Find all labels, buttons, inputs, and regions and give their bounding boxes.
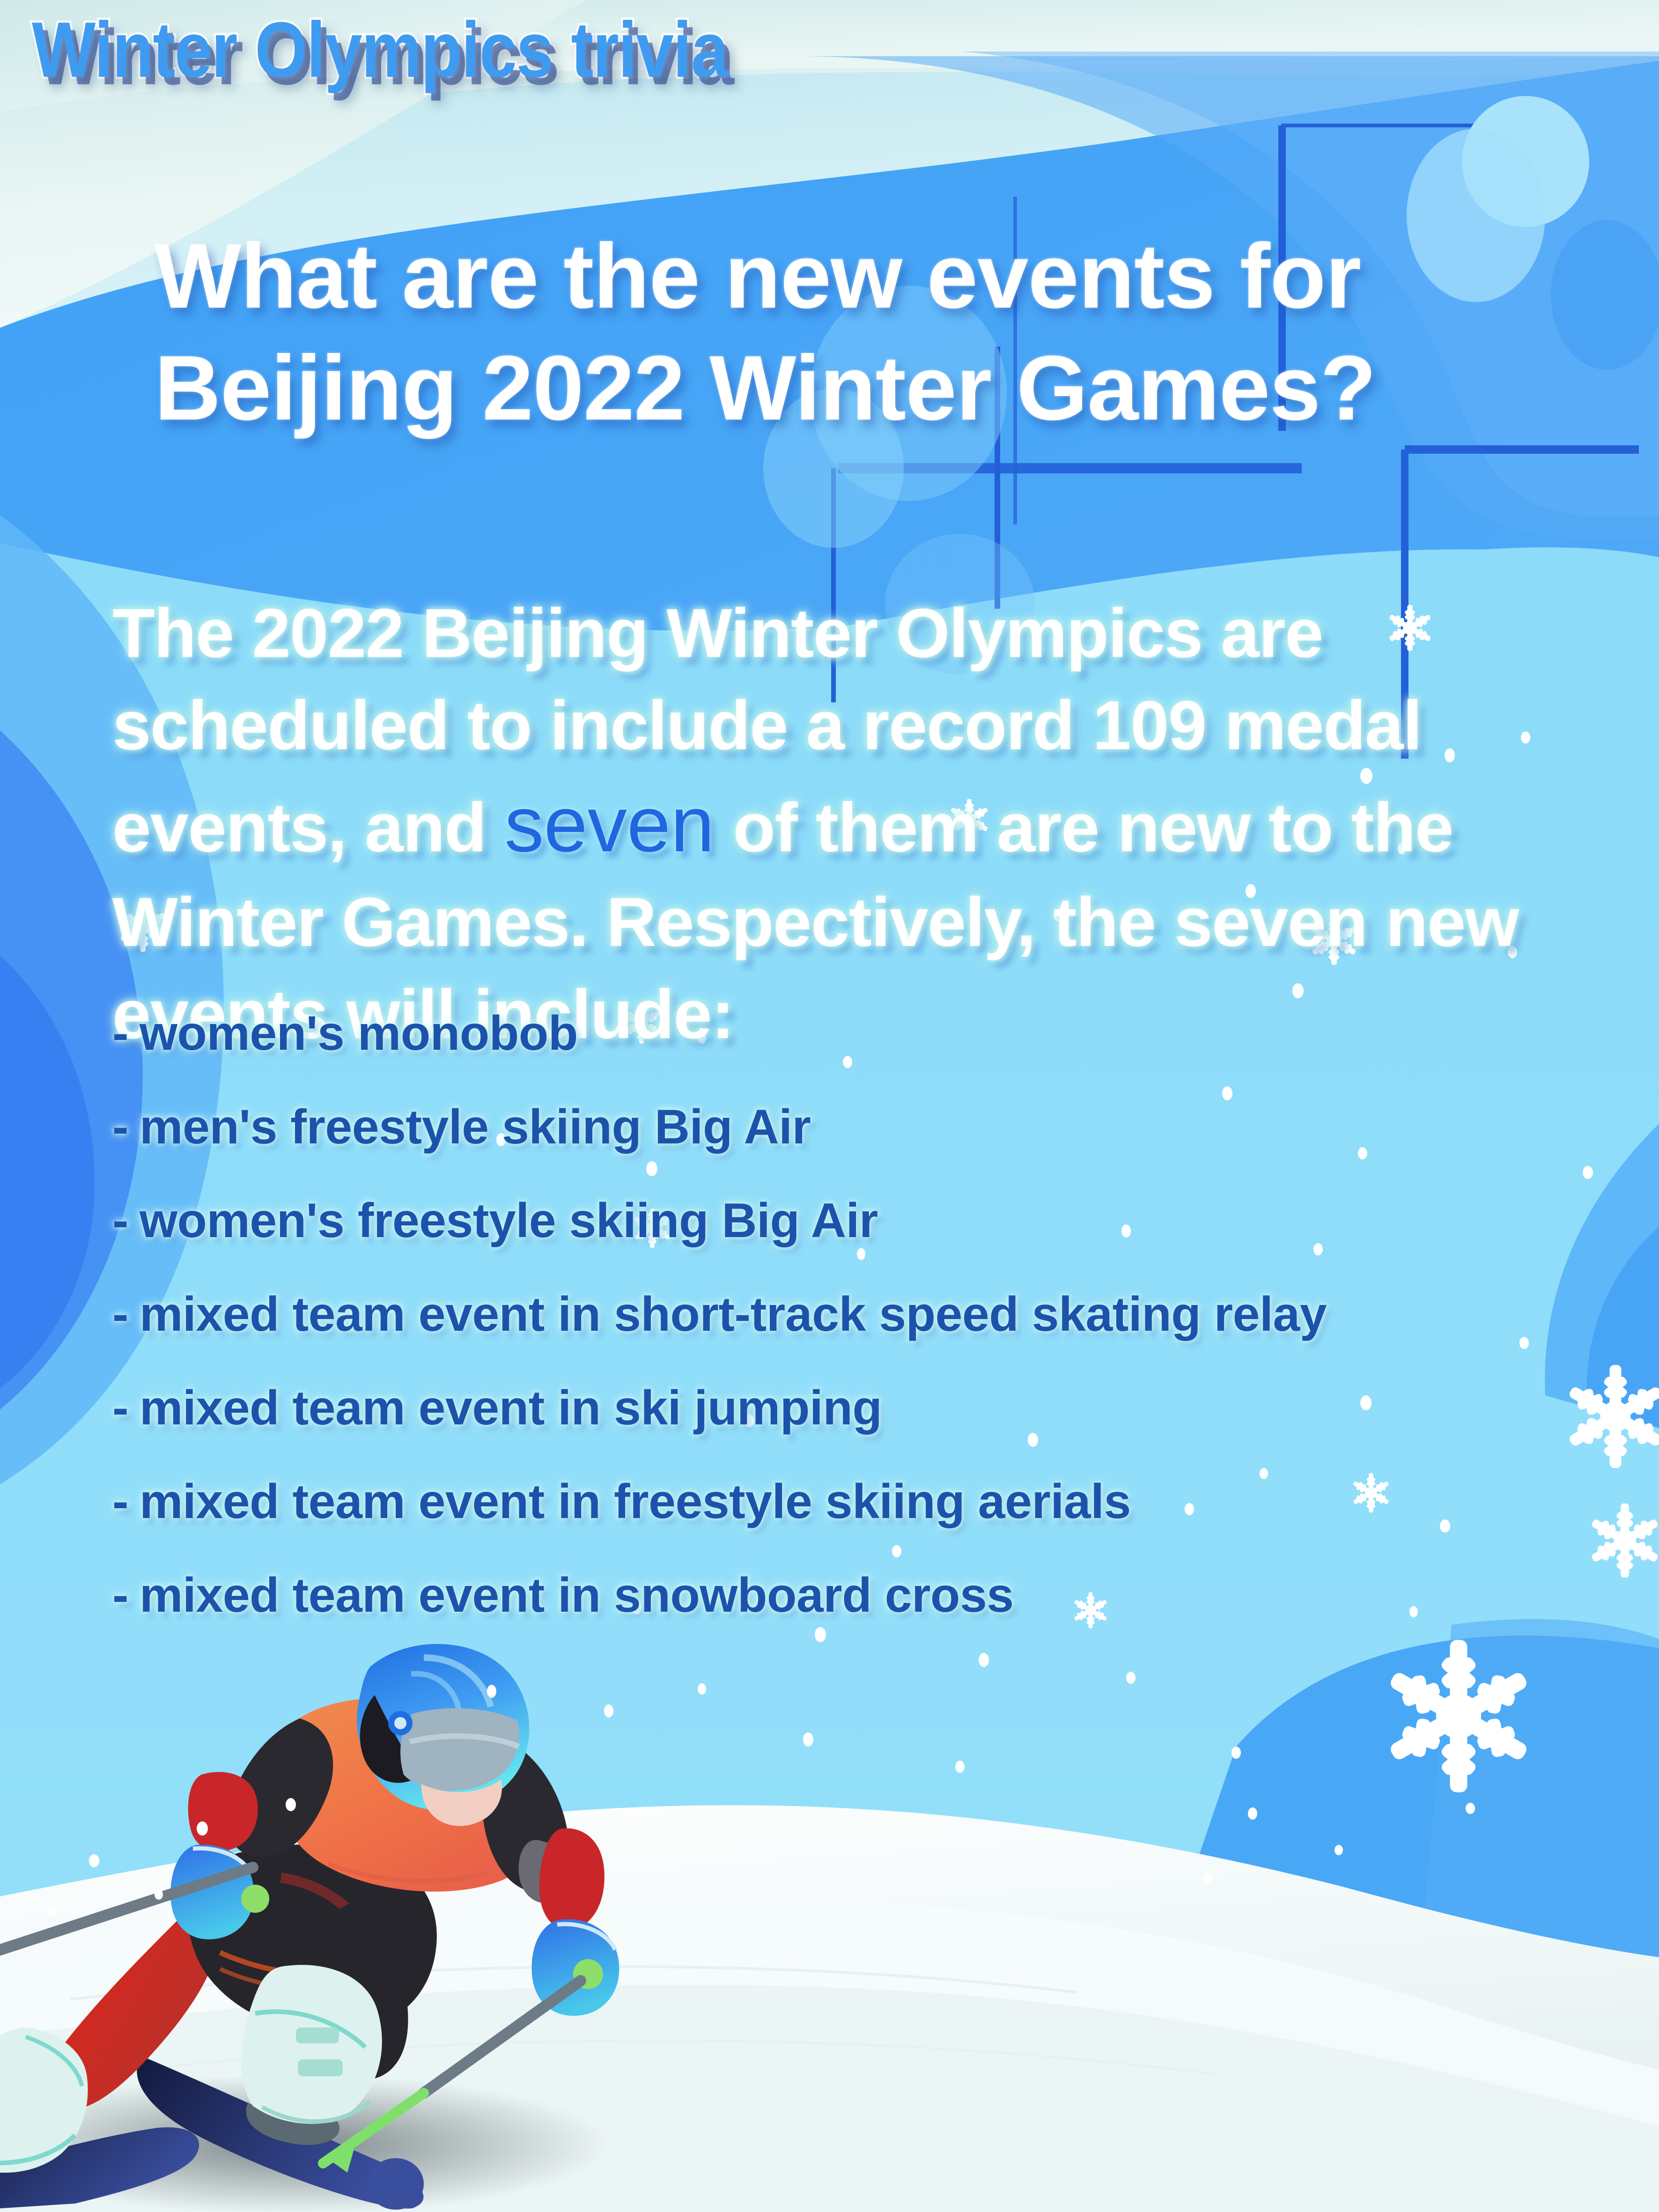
list-item-label: mixed team event in ski jumping [140, 1384, 882, 1432]
list-item: - mixed team event in short-track speed … [112, 1290, 1634, 1384]
list-item: - women's monobob [112, 1009, 1634, 1103]
list-item: - mixed team event in snowboard cross [112, 1571, 1634, 1665]
list-item-label: women's monobob [140, 1009, 578, 1058]
snow-dot [1203, 1873, 1212, 1883]
list-item-label: mixed team event in short-track speed sk… [140, 1290, 1327, 1339]
snow-dot [1231, 1747, 1241, 1759]
snow-dot [698, 1683, 706, 1695]
list-item-label: women's freestyle skiing Big Air [140, 1196, 878, 1245]
snow-dot [487, 1685, 496, 1698]
question-heading-line-2: Beijing 2022 Winter Games? [155, 332, 1503, 444]
snow-dot [1335, 1845, 1343, 1855]
question-heading: What are the new events for Beijing 2022… [155, 220, 1503, 444]
list-item: - mixed team event in ski jumping [112, 1384, 1634, 1477]
list-bullet-dash: - [112, 1384, 140, 1432]
snow-dot [286, 1798, 296, 1811]
list-item-label: mixed team event in freestyle skiing aer… [140, 1477, 1131, 1526]
poster-canvas: Winter Olympics trivia What are the new … [0, 0, 1659, 2212]
list-bullet-dash: - [112, 1196, 140, 1245]
snow-dot [955, 1761, 965, 1773]
snow-dot [1466, 1803, 1475, 1814]
snow-dot [1248, 1807, 1257, 1820]
list-bullet-dash: - [112, 1477, 140, 1526]
list-item-label: mixed team event in snowboard cross [140, 1571, 1014, 1620]
snow-dot [155, 1889, 163, 1900]
snow-dot [47, 1906, 56, 1917]
list-item: - women's freestyle skiing Big Air [112, 1196, 1634, 1290]
page-title: Winter Olympics trivia [32, 10, 728, 89]
snow-dot [1126, 1672, 1135, 1684]
list-item: - men's freestyle skiing Big Air [112, 1103, 1634, 1196]
snow-dot [89, 1854, 99, 1867]
list-bullet-dash: - [112, 1571, 140, 1620]
question-heading-line-1: What are the new events for [155, 220, 1503, 332]
highlight-seven: seven [504, 780, 714, 868]
list-bullet-dash: - [112, 1009, 140, 1058]
new-events-list: - women's monobob - men's freestyle skii… [112, 1009, 1634, 1665]
list-bullet-dash: - [112, 1103, 140, 1151]
answer-paragraph: The 2022 Beijing Winter Olympics are sch… [112, 588, 1578, 1061]
snow-dot [197, 1821, 208, 1836]
snow-dot [604, 1704, 613, 1718]
snow-dot [803, 1733, 813, 1747]
list-item: - mixed team event in freestyle skiing a… [112, 1477, 1634, 1571]
list-bullet-dash: - [112, 1290, 140, 1339]
list-item-label: men's freestyle skiing Big Air [140, 1103, 811, 1151]
